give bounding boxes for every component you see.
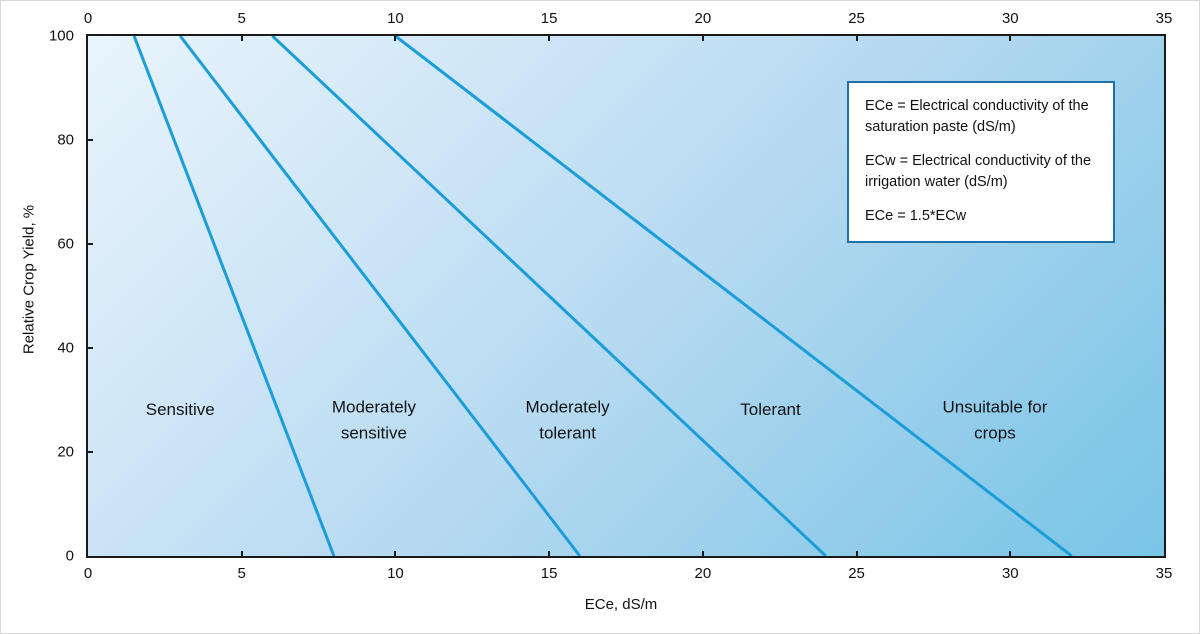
- y-tick-40: [86, 347, 93, 349]
- x-tick-bottom-25: [856, 551, 858, 558]
- note-line-ece-definition: ECe = Electrical conductivity of the sat…: [865, 96, 1099, 137]
- x-tick-top-15: [548, 34, 550, 41]
- x-tick-top-10: [394, 34, 396, 41]
- note-line-ecw-definition: ECw = Electrical conductivity of the irr…: [865, 151, 1099, 192]
- x-tick-label-top-10: 10: [387, 10, 404, 27]
- x-axis-title: ECe, dS/m: [1, 596, 1200, 613]
- salinity-yield-chart: 0055101015152020252530303535020406080100…: [0, 0, 1200, 634]
- y-axis-title: Relative Crop Yield, %: [21, 80, 38, 480]
- threshold-line-1: [180, 36, 580, 556]
- x-tick-label-top-15: 15: [541, 10, 558, 27]
- x-tick-top-5: [241, 34, 243, 41]
- x-tick-label-top-0: 0: [84, 10, 92, 27]
- x-tick-label-bottom-0: 0: [84, 565, 92, 582]
- x-tick-top-30: [1009, 34, 1011, 41]
- x-tick-label-bottom-10: 10: [387, 565, 404, 582]
- x-tick-label-top-30: 30: [1002, 10, 1019, 27]
- threshold-line-2: [272, 36, 825, 556]
- x-tick-label-top-20: 20: [695, 10, 712, 27]
- x-tick-label-bottom-30: 30: [1002, 565, 1019, 582]
- y-tick-label-0: 0: [66, 548, 74, 565]
- x-tick-bottom-20: [702, 551, 704, 558]
- x-tick-label-top-5: 5: [238, 10, 246, 27]
- x-tick-label-bottom-35: 35: [1156, 565, 1173, 582]
- x-tick-label-bottom-5: 5: [238, 565, 246, 582]
- threshold-line-0: [134, 36, 334, 556]
- note-line-conversion-formula: ECe = 1.5*ECw: [865, 206, 1099, 227]
- y-tick-label-40: 40: [57, 340, 74, 357]
- x-tick-bottom-30: [1009, 551, 1011, 558]
- x-tick-label-top-25: 25: [848, 10, 865, 27]
- x-tick-label-top-35: 35: [1156, 10, 1173, 27]
- y-tick-80: [86, 139, 93, 141]
- x-tick-label-bottom-25: 25: [848, 565, 865, 582]
- x-tick-bottom-10: [394, 551, 396, 558]
- definitions-note-box: ECe = Electrical conductivity of the sat…: [847, 81, 1115, 243]
- y-tick-label-60: 60: [57, 236, 74, 253]
- y-tick-label-20: 20: [57, 444, 74, 461]
- y-tick-label-100: 100: [49, 28, 74, 45]
- x-tick-top-20: [702, 34, 704, 41]
- y-tick-label-80: 80: [57, 132, 74, 149]
- x-tick-bottom-5: [241, 551, 243, 558]
- y-tick-60: [86, 243, 93, 245]
- x-tick-label-bottom-20: 20: [695, 565, 712, 582]
- y-tick-20: [86, 451, 93, 453]
- x-tick-top-25: [856, 34, 858, 41]
- x-tick-label-bottom-15: 15: [541, 565, 558, 582]
- x-tick-bottom-15: [548, 551, 550, 558]
